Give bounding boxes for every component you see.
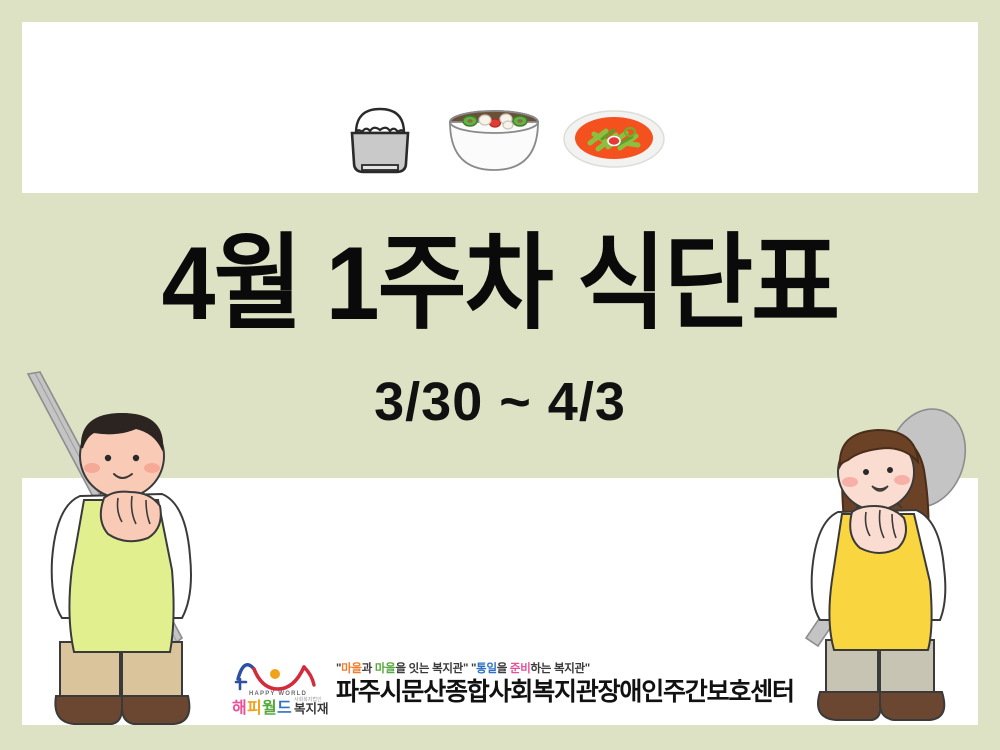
svg-text:드: 드 bbox=[277, 700, 292, 717]
svg-text:해: 해 bbox=[232, 699, 247, 717]
tagline-part2-a: 통일 bbox=[476, 663, 497, 675]
tagline-part1-c: 마을 bbox=[375, 663, 396, 675]
footer: HAPPY WORLD 해 피 월 드 사회복지법인 복지재단 "마을과 마을을… bbox=[228, 648, 788, 720]
tagline-part2-c: 준비 bbox=[510, 663, 531, 675]
tagline-quote-close-2: " bbox=[585, 663, 590, 675]
tagline-part2-d: 하는 복지관 bbox=[530, 663, 584, 675]
rice-bowl-icon bbox=[334, 92, 426, 184]
happy-world-logo: HAPPY WORLD 해 피 월 드 사회복지법인 복지재단 bbox=[228, 649, 328, 719]
tagline-quote-close-1: " bbox=[463, 663, 468, 675]
date-range: 3/30 ~ 4/3 bbox=[0, 372, 1000, 432]
svg-text:월: 월 bbox=[262, 699, 277, 717]
food-icon-row bbox=[0, 88, 1000, 188]
soup-bowl-icon bbox=[440, 96, 548, 180]
footer-text-block: "마을과 마을을 잇는 복지관" "통일을 준비하는 복지관" 파주시문산종합사… bbox=[336, 662, 794, 706]
tagline-part1-a: 마을 bbox=[341, 663, 362, 675]
tagline-part1-d: 을 잇는 복지관 bbox=[395, 663, 462, 675]
page-title: 4월 1주차 식단표 bbox=[35, 232, 965, 336]
tagline-part2-b: 을 bbox=[497, 663, 510, 675]
meal-plan-poster: 4월 1주차 식단표 3/30 ~ 4/3 bbox=[0, 0, 1000, 750]
organization-name: 파주시문산종합사회복지관장애인주간보호센터 bbox=[336, 678, 794, 706]
logo-foundation-label: 복지재단 bbox=[294, 701, 328, 716]
side-dish-icon bbox=[562, 103, 666, 173]
svg-text:피: 피 bbox=[247, 699, 262, 717]
tagline-part1-b: 과 bbox=[362, 663, 375, 675]
girl-with-spoon-illustration bbox=[790, 408, 1000, 750]
tagline: "마을과 마을을 잇는 복지관" "통일을 준비하는 복지관" bbox=[336, 662, 794, 676]
